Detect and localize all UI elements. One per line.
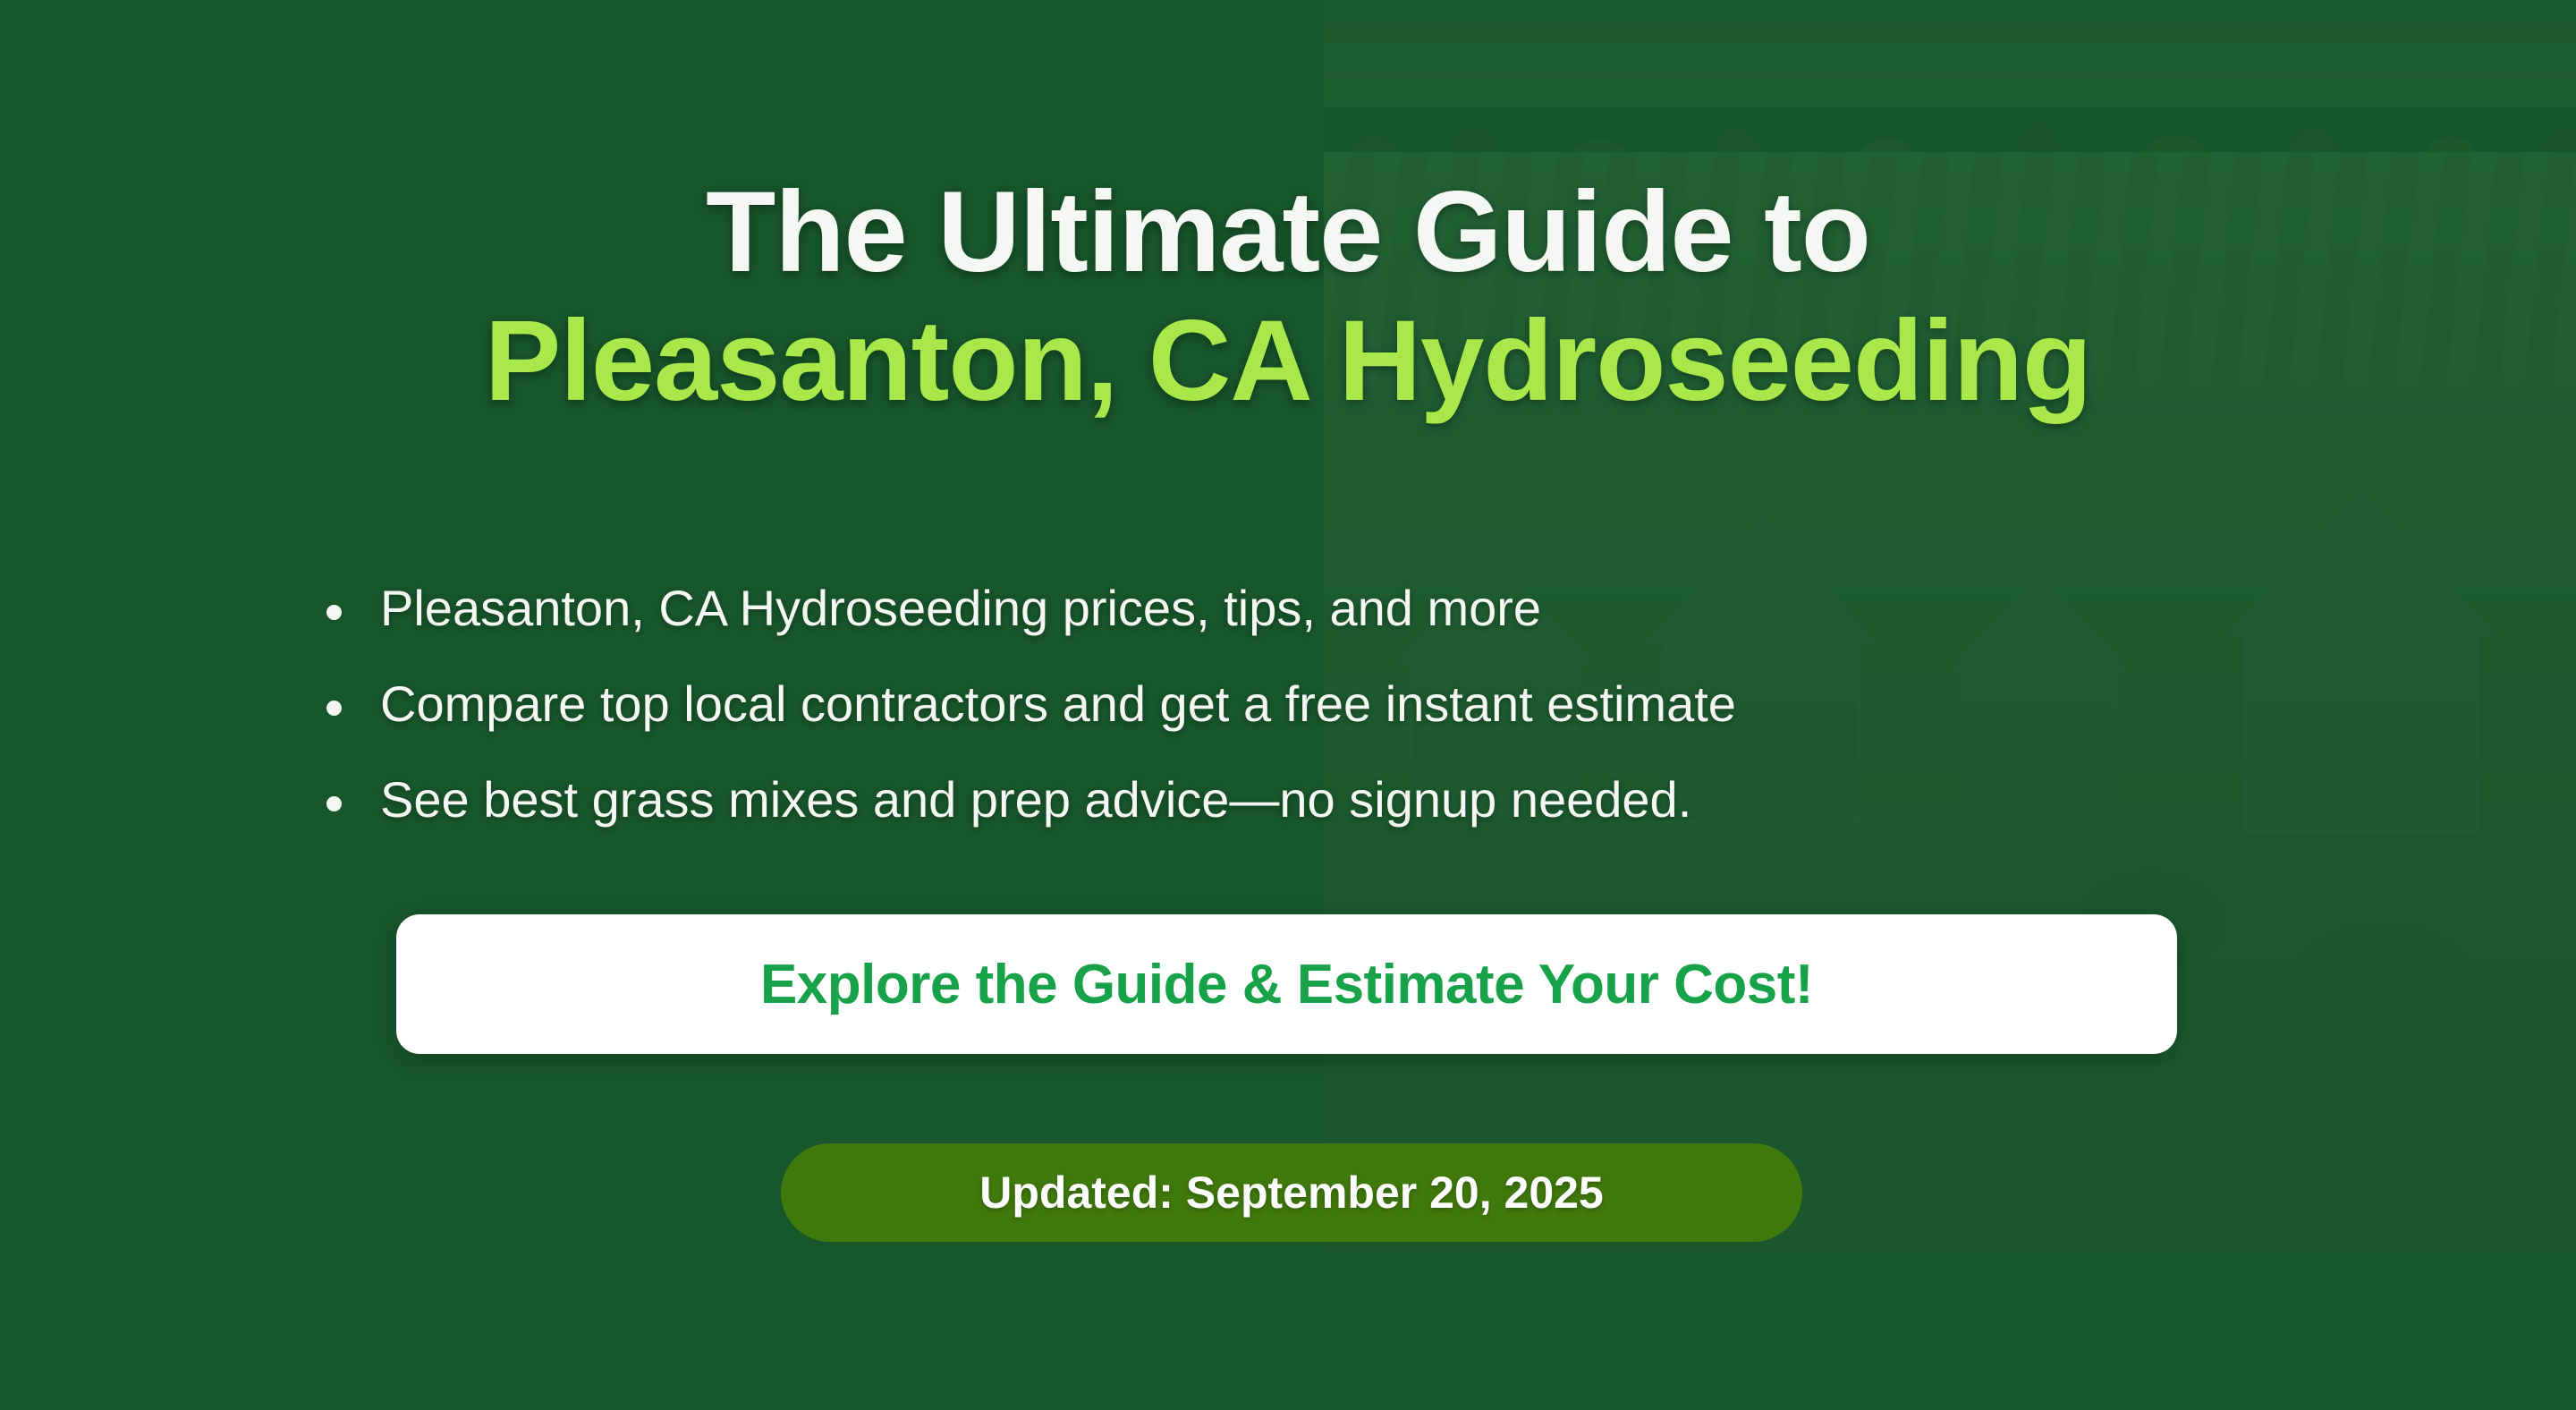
page-title: The Ultimate Guide to Pleasanton, CA Hyd… <box>0 175 2576 419</box>
hero-banner: The Ultimate Guide to Pleasanton, CA Hyd… <box>0 0 2576 1410</box>
list-item: Pleasanton, CA Hydroseeding prices, tips… <box>326 583 1736 633</box>
feature-bullet-list: Pleasanton, CA Hydroseeding prices, tips… <box>326 583 1736 871</box>
explore-guide-cta-button[interactable]: Explore the Guide & Estimate Your Cost! <box>396 914 2177 1054</box>
last-updated-badge: Updated: September 20, 2025 <box>781 1143 1802 1242</box>
headline-line-2-accent: Pleasanton, CA Hydroseeding <box>21 304 2555 419</box>
list-item: Compare top local contractors and get a … <box>326 679 1736 729</box>
hero-content: The Ultimate Guide to Pleasanton, CA Hyd… <box>0 0 2576 1410</box>
list-item: See best grass mixes and prep advice—no … <box>326 775 1736 825</box>
headline-line-1: The Ultimate Guide to <box>706 168 1870 296</box>
